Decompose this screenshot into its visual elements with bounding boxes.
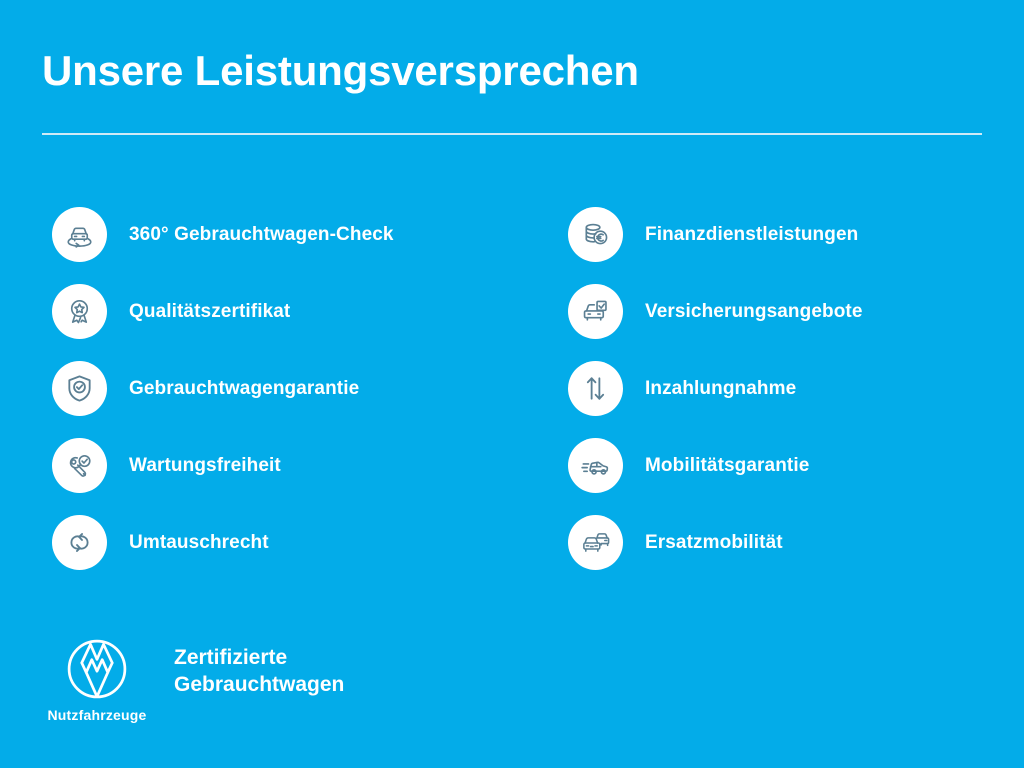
exchange-arrows-icon [52,515,107,570]
promise-item-mobilitaetsgarantie[interactable]: Mobilitätsgarantie [568,427,1024,504]
promise-column-right: Finanzdienstleistungen Versicherungsange… [508,196,1024,581]
shield-check-icon [52,361,107,416]
promise-grid: 360° Gebrauchtwagen-Check Qualitätszerti… [0,196,1024,581]
promise-item-umtauschrecht[interactable]: Umtauschrecht [52,504,508,581]
car-360-check-icon [52,207,107,262]
promise-item-wartungsfreiheit[interactable]: Wartungsfreiheit [52,427,508,504]
promise-label: Ersatzmobilität [645,532,783,554]
promise-label: Gebrauchtwagengarantie [129,378,359,400]
promise-item-versicherungsangebote[interactable]: Versicherungsangebote [568,273,1024,350]
car-checkbox-icon [568,284,623,339]
promise-label: Wartungsfreiheit [129,455,281,477]
promise-label: Finanzdienstleistungen [645,224,858,246]
promise-label: Inzahlungnahme [645,378,796,400]
promise-label: Versicherungsangebote [645,301,863,323]
arrows-up-down-icon [568,361,623,416]
header: Unsere Leistungsversprechen [42,48,982,94]
brand-claim: Zertifizierte Gebrauchtwagen [174,645,344,699]
brand-footer: Nutzfahrzeuge Zertifizierte Gebrauchtwag… [42,638,344,723]
promise-item-finanzdienstleistungen[interactable]: Finanzdienstleistungen [568,196,1024,273]
award-medal-icon [52,284,107,339]
two-cars-icon [568,515,623,570]
page-title: Unsere Leistungsversprechen [42,48,982,94]
coins-euro-icon [568,207,623,262]
title-divider [42,133,982,135]
slide-root: Unsere Leistungsversprechen 360° Gebrauc… [0,0,1024,768]
car-speed-icon [568,438,623,493]
promise-item-gebrauchtwagengarantie[interactable]: Gebrauchtwagengarantie [52,350,508,427]
promise-label: Mobilitätsgarantie [645,455,809,477]
promise-label: Qualitätszertifikat [129,301,290,323]
promise-item-qualitaetszertifikat[interactable]: Qualitätszertifikat [52,273,508,350]
promise-column-left: 360° Gebrauchtwagen-Check Qualitätszerti… [0,196,508,581]
promise-label: Umtauschrecht [129,532,269,554]
volkswagen-logo-icon [66,638,128,700]
promise-item-gebrauchtwagen-check[interactable]: 360° Gebrauchtwagen-Check [52,196,508,273]
wrench-check-icon [52,438,107,493]
promise-item-ersatzmobilitaet[interactable]: Ersatzmobilität [568,504,1024,581]
brand-logo-block: Nutzfahrzeuge [42,638,152,723]
promise-label: 360° Gebrauchtwagen-Check [129,224,394,246]
brand-subtitle: Nutzfahrzeuge [47,707,146,723]
promise-item-inzahlungnahme[interactable]: Inzahlungnahme [568,350,1024,427]
